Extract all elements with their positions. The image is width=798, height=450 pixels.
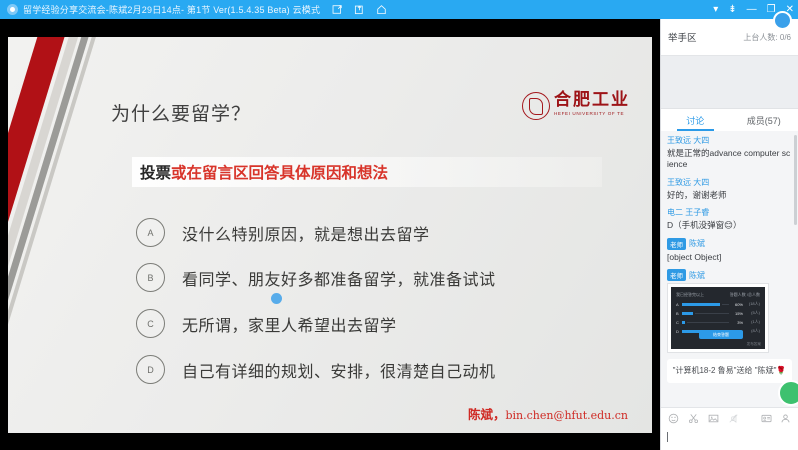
poll-row-count: (5人) <box>745 310 760 316</box>
poll-row-count: (8人) <box>745 328 760 334</box>
hand-raise-header: 举手区 上台人数: 0/6 <box>661 19 798 56</box>
poll-row-track <box>695 313 729 314</box>
teacher-badge: 老师 <box>667 269 686 281</box>
home-icon[interactable] <box>376 4 387 15</box>
new-message-button[interactable] <box>778 380 798 406</box>
chat-message-image: 老师 陈斌 我已经答完以上 答题人数 /总人数 A 60% <box>667 269 792 353</box>
poll-row: B 15% (5人) <box>676 310 760 316</box>
university-logo: 合肥工业 HEFEI UNIVERSITY OF TE <box>522 92 630 120</box>
tab-members[interactable]: 成员(57) <box>730 109 798 131</box>
poll-row-label: D <box>676 329 680 334</box>
poll-action-button: 结束答题 <box>699 330 743 339</box>
poll-row-label: A <box>676 302 680 307</box>
title-bar: 留学经验分享交流会-陈斌2月29日14点- 第1节 Ver(1.5.4.35 B… <box>0 0 798 19</box>
chat-text: 就是正常的advance computer science <box>667 148 792 171</box>
chat-author-name: 陈斌 <box>689 238 705 249</box>
export-icon[interactable] <box>354 4 365 15</box>
chat-author-name: 电二 王子睿 <box>667 207 709 218</box>
mute-icon[interactable] <box>728 413 739 424</box>
chat-author: 老师 陈斌 <box>667 238 792 250</box>
pin-icon[interactable]: ⇟ <box>728 5 736 15</box>
poll-row-track <box>687 322 729 323</box>
poll-row-label: B <box>676 311 680 316</box>
slide-option-d[interactable]: D 自己有详细的规划、安排，很清楚自己动机 <box>136 355 496 384</box>
chat-input-bar <box>661 407 798 450</box>
option-bubble-d: D <box>136 355 165 384</box>
university-name-en: HEFEI UNIVERSITY OF TE <box>554 112 630 117</box>
chat-message-list[interactable]: 王致远 大四 就是正常的advance computer science 王致远… <box>661 131 798 408</box>
poll-header: 我已经答完以上 答题人数 /总人数 <box>676 292 760 298</box>
university-name-cn: 合肥工业 <box>554 92 630 109</box>
person-icon[interactable] <box>780 413 791 424</box>
chat-message: 老师 陈斌 [object Object] <box>667 238 792 263</box>
poll-row-bar <box>682 312 693 315</box>
classroom-app-window: 留学经验分享交流会-陈斌2月29日14点- 第1节 Ver(1.5.4.35 B… <box>0 0 798 450</box>
poll-row-pct: 15% <box>731 311 743 316</box>
poll-row-count: (18人) <box>745 301 760 307</box>
option-text-d: 自己有详细的规划、安排，很清楚自己动机 <box>182 358 496 382</box>
app-logo-icon <box>7 4 18 15</box>
poll-header-left: 我已经答完以上 <box>676 292 704 298</box>
chat-text: [object Object] <box>667 252 792 263</box>
option-bubble-a: A <box>136 218 165 247</box>
stage-count-label: 上台人数: 0/6 <box>743 32 791 43</box>
slide-signature: 陈斌，bin.chen@hfut.edu.cn <box>468 404 628 423</box>
chat-message: 王致远 大四 就是正常的advance computer science <box>667 135 792 171</box>
poll-header-right: 答题人数 /总人数 <box>730 292 760 298</box>
banner-plain-text: 投票 <box>140 161 171 183</box>
right-panel: 举手区 上台人数: 0/6 讨论 成员(57) 王致远 大四 就是正常的adva… <box>660 19 798 450</box>
chat-text: D（手机没弹窗😊） <box>667 220 792 231</box>
poll-row-bar <box>682 321 685 324</box>
poll-row-track <box>722 304 729 305</box>
signature-email: bin.chen@hfut.edu.cn <box>505 409 628 422</box>
slide-option-a[interactable]: A 没什么特别原因，就是想出去留学 <box>136 218 430 247</box>
slide-canvas[interactable]: 为什么要留学？ 合肥工业 HEFEI UNIVERSITY OF TE 投票或在… <box>8 37 652 433</box>
chat-author-name: 王致远 大四 <box>667 135 709 146</box>
poll-row-label: C <box>676 320 680 325</box>
option-text-b: 看同学、朋友好多都准备留学，就准备试试 <box>182 266 496 290</box>
option-bubble-b: B <box>136 263 165 292</box>
image-icon[interactable] <box>708 413 719 424</box>
chat-text: 好的，谢谢老师 <box>667 190 792 201</box>
chat-message: 王致远 大四 好的，谢谢老师 <box>667 177 792 201</box>
slide-option-b[interactable]: B 看同学、朋友好多都准备留学，就准备试试 <box>136 263 496 292</box>
window-title: 留学经验分享交流会-陈斌2月29日14点- 第1节 Ver(1.5.4.35 B… <box>23 3 320 16</box>
slide-option-c[interactable]: C 无所谓，家里人希望出去留学 <box>136 309 397 338</box>
chat-author: 王致远 大四 <box>667 177 792 188</box>
university-seal-icon <box>522 92 550 120</box>
poll-row: A 60% (18人) <box>676 301 760 307</box>
slide-banner: 投票或在留言区回答具体原因和想法 <box>132 157 602 187</box>
hand-raise-area[interactable] <box>661 56 798 109</box>
option-text-c: 无所谓，家里人希望出去留学 <box>182 312 397 336</box>
poll-row-pct: 60% <box>731 302 743 307</box>
panel-tabs: 讨论 成员(57) <box>661 109 798 132</box>
chat-author-name: 王致远 大四 <box>667 177 709 188</box>
chat-message: 电二 王子睿 D（手机没弹窗😊） <box>667 207 792 231</box>
emoji-icon[interactable] <box>668 413 679 424</box>
chat-author: 老师 陈斌 <box>667 269 792 281</box>
poll-row-count: (1人) <box>745 319 760 325</box>
presentation-stage: 为什么要留学？ 合肥工业 HEFEI UNIVERSITY OF TE 投票或在… <box>0 19 660 450</box>
scissors-icon[interactable] <box>688 413 699 424</box>
banner-red-text: 或在留言区回答具体原因和想法 <box>171 161 388 183</box>
edit-icon[interactable] <box>332 4 343 15</box>
poll-result-image[interactable]: 我已经答完以上 答题人数 /总人数 A 60% (18人) B <box>667 283 769 353</box>
poll-row-pct: 3% <box>731 320 743 325</box>
laser-pointer-icon <box>271 293 282 304</box>
restore-button[interactable]: ❐ <box>767 5 776 15</box>
option-bubble-c: C <box>136 309 165 338</box>
hand-raise-button[interactable] <box>773 11 792 30</box>
poll-row: C 3% (1人) <box>676 319 760 325</box>
chat-scrollbar[interactable] <box>794 135 797 225</box>
option-text-a: 没什么特别原因，就是想出去留学 <box>182 221 430 245</box>
chat-toolbar-right <box>761 413 791 424</box>
poll-row-bar <box>682 303 720 306</box>
chat-input[interactable] <box>667 430 792 444</box>
teacher-badge: 老师 <box>667 238 686 250</box>
dropdown-icon[interactable]: ▾ <box>713 5 718 15</box>
minimize-button[interactable]: — <box>747 5 757 15</box>
chat-author: 王致远 大四 <box>667 135 792 146</box>
gift-notice: "计算机18-2 鲁易"送给 "陈斌"🌹 <box>667 359 792 383</box>
title-bar-icons <box>332 4 387 15</box>
card-icon[interactable] <box>761 413 772 424</box>
slide-title: 为什么要留学？ <box>111 99 251 126</box>
chat-author: 电二 王子睿 <box>667 207 792 218</box>
signature-name: 陈斌， <box>468 407 506 422</box>
hand-raise-title: 举手区 <box>668 30 697 44</box>
poll-result-body: 我已经答完以上 答题人数 /总人数 A 60% (18人) B <box>671 287 765 349</box>
poll-footer-label: 发布答案 <box>747 342 761 347</box>
chat-author-name: 陈斌 <box>689 270 705 281</box>
tab-discussion[interactable]: 讨论 <box>661 109 730 131</box>
